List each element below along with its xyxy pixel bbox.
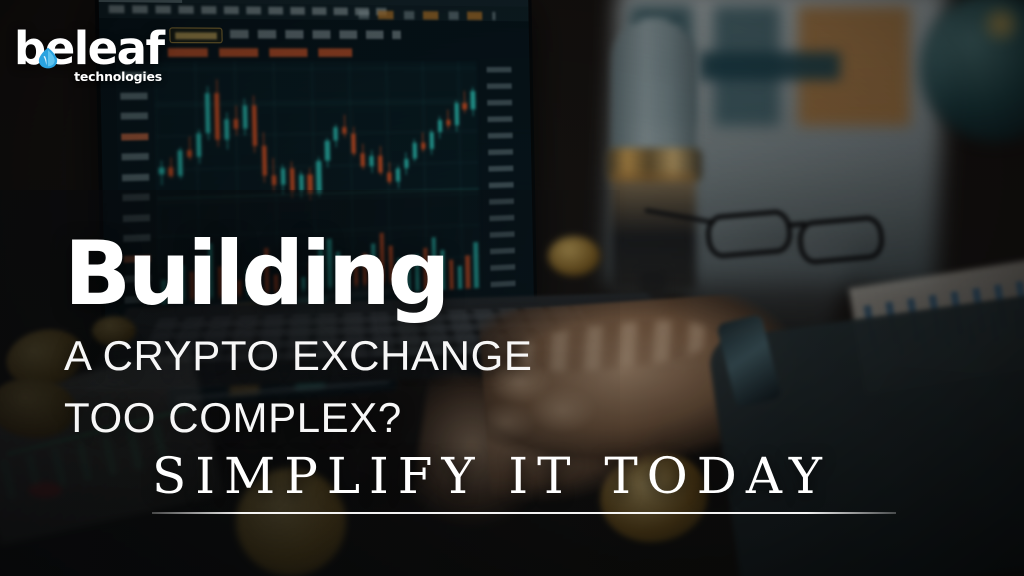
headline-line-3: TOO COMPLEX?: [64, 392, 964, 444]
headline-line-1: Building: [64, 228, 964, 320]
tagline-underline: [152, 512, 896, 514]
headline-block: Building A CRYPTO EXCHANGE TOO COMPLEX?: [64, 228, 964, 444]
brand-logo[interactable]: beleaf technologies: [14, 26, 164, 88]
promo-banner: beleaf technologies Building A CRYPTO EX…: [0, 0, 1024, 576]
brand-name: beleaf: [14, 26, 164, 72]
leaf-droplet-icon: [38, 47, 58, 69]
headline-line-4: SIMPLIFY IT TODAY: [152, 448, 904, 504]
tagline-block: SIMPLIFY IT TODAY: [152, 448, 904, 514]
brand-tagline: technologies: [74, 69, 162, 84]
headline-line-2: A CRYPTO EXCHANGE: [64, 330, 964, 382]
